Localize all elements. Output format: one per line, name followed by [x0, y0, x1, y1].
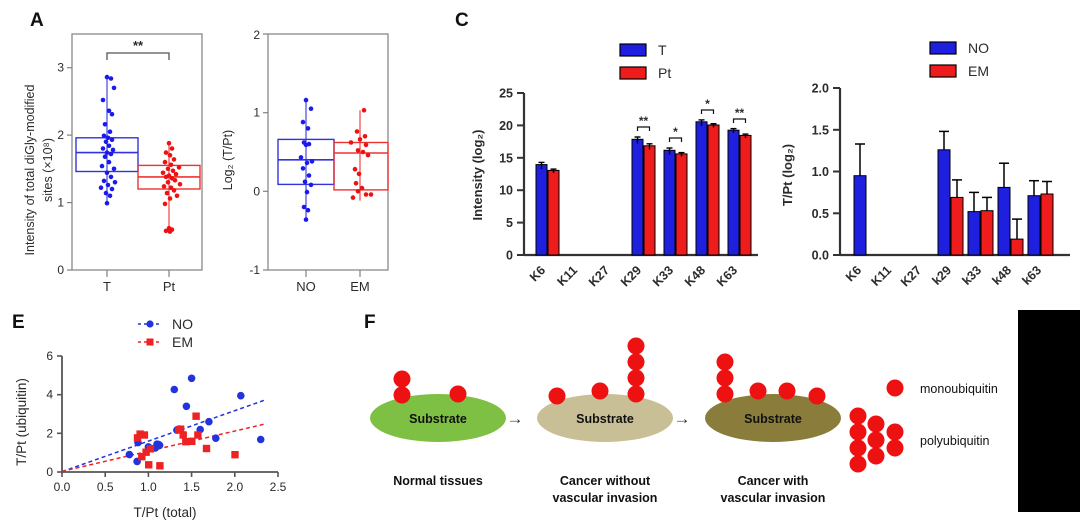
svg-text:k33: k33 [959, 263, 984, 288]
ubiquitin-chain-normal-2 [450, 386, 467, 403]
panel-c-left-ylabel: Intensity (log₂) [470, 130, 485, 221]
panel-e-legend-label-em: EM [172, 334, 193, 350]
svg-text:1: 1 [57, 196, 64, 210]
ubiquitin-chain-normal-1 [394, 371, 411, 404]
svg-text:2.0: 2.0 [226, 480, 243, 494]
panel-letter-c: C [455, 10, 469, 32]
legend-label-monoubiquitin: monoubiquitin [920, 382, 998, 396]
svg-text:0: 0 [57, 263, 64, 277]
svg-text:**: ** [133, 38, 144, 53]
stage-caption-normal: Normal tissues [393, 474, 483, 488]
svg-text:10: 10 [499, 184, 513, 198]
svg-text:0.0: 0.0 [812, 249, 829, 263]
ubiquitin-chain-ci-4 [809, 388, 826, 405]
panel-a-left-xticks: T Pt [103, 270, 175, 294]
svg-text:0: 0 [46, 465, 53, 479]
svg-text:*: * [705, 97, 710, 111]
panel-a-right-ylabel: Log₂ (T/Pt) [221, 130, 235, 190]
svg-text:0.0: 0.0 [54, 480, 71, 494]
panel-f-legend: monoubiquitin polyubiquitin [850, 380, 998, 473]
panel-e-yticks: 0 2 4 6 [46, 349, 62, 479]
panel-a-left-svg: Intensity of total diGly-modified sites … [18, 30, 208, 295]
svg-text:2: 2 [46, 426, 53, 440]
svg-text:0: 0 [506, 249, 513, 263]
svg-text:1.0: 1.0 [812, 165, 829, 179]
panel-e-scatter: NO EM T/Pt (ubiquitin) T/Pt (total) 0 2 … [10, 312, 340, 527]
svg-text:3: 3 [57, 61, 64, 75]
ubiquitin-chain-ci-2 [750, 383, 767, 400]
stage-caption-cancer-with-2: vascular invasion [721, 491, 826, 505]
panel-a-left-yticks: 0 1 2 3 [57, 61, 72, 277]
svg-text:K27: K27 [586, 263, 612, 289]
panel-c-right-bars [854, 131, 1053, 255]
svg-text:K11: K11 [554, 263, 580, 289]
legend-mono-ubiquitin-icon [887, 380, 904, 397]
svg-text:K11: K11 [868, 263, 894, 289]
substrate-label-normal: Substrate [409, 412, 467, 426]
svg-text:2: 2 [57, 128, 64, 142]
panel-f-diagram: Substrate Normal tissues → Substrate Can… [360, 330, 1020, 520]
panel-a-left-ylabel-2: sites (×10⁸) [41, 138, 55, 202]
panel-c-bar-right: NO EM T/Pt (log₂) 0.0 0.5 1.0 1.5 2.0 [778, 30, 1078, 295]
stage-caption-cancer-without-2: vascular invasion [553, 491, 658, 505]
legend-label-no: NO [968, 40, 989, 56]
legend-marker-no [146, 320, 153, 327]
panel-c-right-svg: NO EM T/Pt (log₂) 0.0 0.5 1.0 1.5 2.0 [778, 30, 1078, 295]
legend-label-em: EM [968, 63, 989, 79]
svg-text:*: * [673, 125, 678, 139]
ubiquitin-chain-ci-1 [717, 354, 734, 403]
panel-c-left-bars [536, 120, 751, 255]
panel-a-right-plot-frame [268, 34, 388, 270]
svg-text:4: 4 [46, 388, 53, 402]
stage-caption-cancer-with-1: Cancer with [738, 474, 809, 488]
panel-letter-a: A [30, 10, 44, 32]
svg-text:K27: K27 [898, 263, 924, 289]
panel-f-svg: Substrate Normal tissues → Substrate Can… [360, 330, 1020, 520]
svg-text:**: ** [639, 114, 649, 128]
legend-poly-ubiquitin-icon [850, 408, 904, 473]
legend-swatch-pt [620, 67, 646, 79]
ubiquitin-chain-cw-3 [628, 338, 645, 403]
svg-text:0: 0 [253, 184, 260, 198]
svg-text:2.0: 2.0 [812, 82, 829, 96]
panel-e-legend-label-no: NO [172, 316, 193, 332]
svg-text:K33: K33 [650, 263, 676, 289]
panel-c-left-xticks: K6 K11 K27 K29 K33 K48 K63 [527, 263, 740, 289]
panel-c-right-ylabel: T/Pt (log₂) [780, 144, 795, 206]
svg-text:**: ** [735, 106, 745, 120]
panel-a-right-xtick-em: EM [350, 279, 370, 294]
legend-swatch-em [930, 65, 956, 77]
svg-text:2: 2 [253, 28, 260, 42]
svg-text:k63: k63 [1019, 263, 1044, 288]
panel-c-left-yticks: 0 5 10 15 20 25 [499, 87, 524, 263]
panel-a-left-xtick-pt: Pt [163, 279, 176, 294]
substrate-label-cancer-without: Substrate [576, 412, 634, 426]
svg-text:1.0: 1.0 [140, 480, 157, 494]
arrow-icon-2: → [674, 409, 691, 428]
svg-text:1.5: 1.5 [183, 480, 200, 494]
panel-a-right-yticks: -1 0 1 2 [249, 28, 268, 277]
panel-e-xlabel: T/Pt (total) [133, 505, 196, 520]
stage-cancer-with-invasion: Substrate Cancer with vascular invasion [705, 354, 841, 506]
black-block [1018, 310, 1080, 512]
legend-swatch-no [930, 42, 956, 54]
svg-text:15: 15 [499, 151, 513, 165]
svg-text:k29: k29 [929, 263, 954, 288]
svg-text:K48: K48 [682, 263, 708, 289]
svg-text:K6: K6 [843, 263, 864, 284]
panel-e-legend: NO EM [138, 316, 193, 350]
stage-normal-tissues: Substrate Normal tissues [370, 371, 506, 489]
svg-text:2.5: 2.5 [270, 480, 287, 494]
panel-a-left-xtick-t: T [103, 279, 111, 294]
panel-c-right-xticks: K6 K11 K27 k29 k33 k48 k63 [843, 263, 1044, 289]
panel-e-svg: NO EM T/Pt (ubiquitin) T/Pt (total) 0 2 … [10, 312, 340, 527]
panel-c-right-legend: NO EM [930, 40, 989, 79]
panel-a-boxplot-right: Log₂ (T/Pt) -1 0 1 2 [208, 30, 408, 295]
ubiquitin-chain-cw-1 [549, 388, 566, 405]
svg-text:K29: K29 [618, 263, 644, 289]
arrow-icon-1: → [507, 409, 524, 428]
svg-text:0.5: 0.5 [812, 207, 829, 221]
svg-text:20: 20 [499, 119, 513, 133]
legend-swatch-t [620, 44, 646, 56]
stage-caption-cancer-without-1: Cancer without [560, 474, 651, 488]
substrate-label-cancer-with: Substrate [744, 412, 802, 426]
panel-c-left-svg: T Pt Intensity (log₂) 0 5 10 15 20 25 [468, 30, 768, 295]
panel-e-trend-no [62, 400, 265, 472]
svg-text:K6: K6 [527, 263, 548, 284]
panel-c-bar-left: T Pt Intensity (log₂) 0 5 10 15 20 25 [468, 30, 768, 295]
ubiquitin-chain-cw-2 [592, 383, 609, 400]
svg-text:k48: k48 [989, 263, 1014, 288]
legend-label-t: T [658, 42, 667, 58]
panel-c-left-legend: T Pt [620, 42, 671, 81]
legend-marker-em [147, 339, 154, 346]
svg-text:1: 1 [253, 106, 260, 120]
panel-c-right-yticks: 0.0 0.5 1.0 1.5 2.0 [812, 82, 840, 263]
panel-a-left-ylabel: Intensity of total diGly-modified [23, 85, 37, 256]
ubiquitin-chain-ci-3 [779, 383, 796, 400]
svg-text:25: 25 [499, 87, 513, 101]
stage-cancer-without-invasion: Substrate Cancer without vascular invasi… [537, 338, 673, 506]
panel-a-right-xtick-no: NO [296, 279, 316, 294]
legend-label-pt: Pt [658, 65, 671, 81]
panel-e-xticks: 0.0 0.5 1.0 1.5 2.0 2.5 [54, 472, 287, 494]
svg-text:5: 5 [506, 216, 513, 230]
panel-e-ylabel: T/Pt (ubiquitin) [14, 378, 29, 466]
svg-text:K63: K63 [714, 263, 740, 289]
panel-a-right-svg: Log₂ (T/Pt) -1 0 1 2 [208, 30, 408, 295]
svg-text:0.5: 0.5 [97, 480, 114, 494]
svg-text:1.5: 1.5 [812, 123, 829, 137]
svg-text:6: 6 [46, 349, 53, 363]
legend-label-polyubiquitin: polyubiquitin [920, 434, 990, 448]
panel-a-boxplot-left: Intensity of total diGly-modified sites … [18, 30, 208, 295]
panel-a-right-xticks: NO EM [296, 270, 370, 294]
svg-text:-1: -1 [249, 263, 260, 277]
